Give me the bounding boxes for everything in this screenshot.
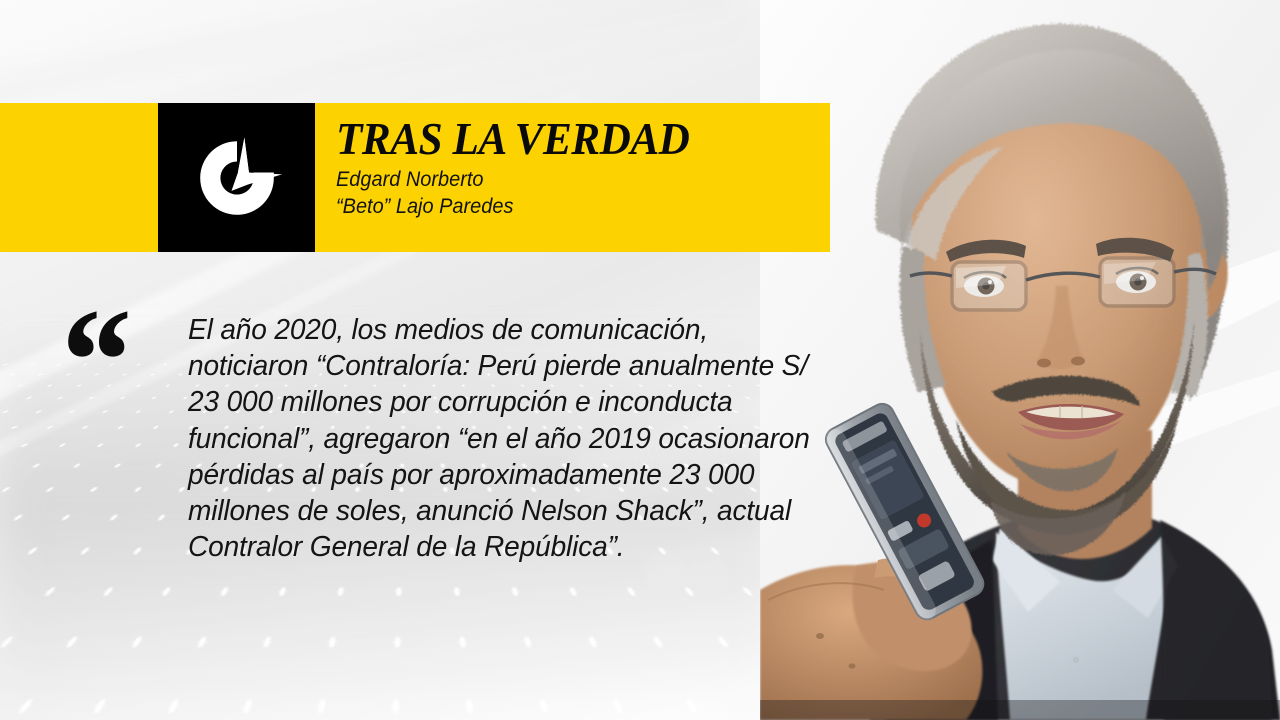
quote-line: 23 000 millones por corrupción e incondu… [188,384,850,420]
header-text-block: TRAS LA VERDAD Edgard Norberto “Beto” La… [336,112,816,220]
quote-line: millones de soles, anunció Nelson Shack”… [188,493,850,529]
poster-canvas: TRAS LA VERDAD Edgard Norberto “Beto” La… [0,0,1280,720]
quote-line: pérdidas al país por aproximadamente 23 … [188,457,850,493]
quote-line: Contralor General de la República”. [188,529,850,565]
quote-line: noticiaron “Contraloría: Perú pierde anu… [188,348,850,384]
open-quote-icon: “ [54,286,123,436]
quote-text: El año 2020, los medios de comunicación,… [188,312,850,565]
quote-line: funcional”, agregaron “en el año 2019 oc… [188,421,850,457]
byline-line-1: Edgard Norberto [336,166,792,193]
byline-line-2: “Beto” Lajo Paredes [336,193,792,220]
quote-line: El año 2020, los medios de comunicación, [188,312,850,348]
circular-arrow-logo-icon [191,132,283,224]
logo-badge [158,103,315,252]
page-title: TRAS LA VERDAD [336,112,797,166]
